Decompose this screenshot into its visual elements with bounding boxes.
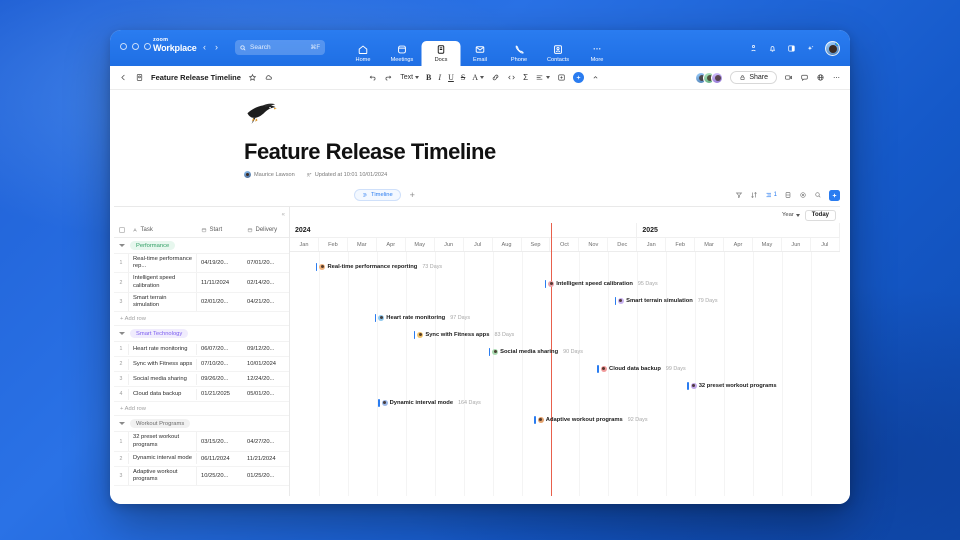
gantt-bar-start-cap bbox=[597, 365, 599, 373]
row-number: 2 bbox=[114, 454, 128, 464]
collapse-panel-button[interactable]: « bbox=[114, 207, 289, 223]
video-icon[interactable] bbox=[784, 73, 793, 82]
row-number: 1 bbox=[114, 258, 128, 268]
gantt-gridline bbox=[724, 252, 725, 496]
whiteboard-icon[interactable] bbox=[749, 44, 758, 53]
timeline-view-tabs: Timeline + 1 bbox=[114, 188, 840, 202]
timeline-board: « Task Start bbox=[114, 206, 840, 496]
cell-start[interactable]: 04/19/20... bbox=[197, 258, 243, 268]
text-style-label: Text bbox=[400, 74, 413, 81]
formula-button[interactable]: Σ bbox=[523, 73, 528, 82]
search-icon bbox=[240, 45, 246, 51]
group-count-label: 1 bbox=[774, 192, 777, 198]
globe-icon[interactable] bbox=[816, 73, 825, 82]
gantt-month-label: Jan bbox=[290, 238, 319, 251]
gantt-bar[interactable]: Smart terrain simulation79 Days bbox=[615, 296, 718, 305]
cell-task[interactable]: Smart terrain simulation bbox=[128, 293, 197, 311]
ai-assist-icon[interactable] bbox=[573, 72, 584, 83]
cell-start[interactable]: 06/11/2024 bbox=[197, 454, 243, 464]
cell-start[interactable]: 07/10/20... bbox=[197, 359, 243, 369]
nav-tab-meetings[interactable]: Meetings bbox=[383, 41, 422, 66]
gantt-month-label: Mar bbox=[348, 238, 377, 251]
group-name-pill: Workout Programs bbox=[130, 419, 190, 428]
cell-delivery[interactable]: 07/01/20... bbox=[243, 258, 289, 268]
date-type-icon bbox=[201, 227, 207, 233]
nav-tab-phone-label: Phone bbox=[511, 57, 527, 63]
table-row[interactable]: 3Social media sharing09/26/20...12/24/20… bbox=[114, 372, 289, 387]
zoom-level-dropdown[interactable]: Year bbox=[782, 212, 800, 218]
cell-task[interactable]: Social media sharing bbox=[128, 374, 197, 385]
gantt-bar-label: Smart terrain simulation bbox=[626, 298, 693, 304]
assignee-avatar bbox=[618, 298, 624, 304]
nav-tab-docs-label: Docs bbox=[435, 57, 448, 63]
table-row[interactable]: 132 preset workout programs03/15/20...04… bbox=[114, 432, 289, 451]
cell-task[interactable]: Dynamic interval mode bbox=[128, 453, 197, 464]
gantt-gridline bbox=[435, 252, 436, 496]
table-group-header[interactable]: Performance bbox=[114, 238, 289, 254]
panel-icon[interactable] bbox=[787, 44, 796, 53]
column-header-start[interactable]: Start bbox=[197, 227, 243, 233]
underline-button[interactable]: U bbox=[448, 73, 454, 82]
gantt-controls: Year Today bbox=[290, 207, 840, 223]
column-header-delivery[interactable]: Delivery bbox=[243, 227, 289, 233]
gantt-bar[interactable]: Adaptive workout programs92 Days bbox=[534, 415, 647, 424]
gantt-month-label: Feb bbox=[666, 238, 695, 251]
nav-tab-phone[interactable]: Phone bbox=[500, 41, 539, 66]
cell-delivery[interactable]: 04/21/20... bbox=[243, 297, 289, 307]
document-meta: Maurice Lawson Updated at 10:01 10/01/20… bbox=[244, 171, 850, 178]
gantt-chart: Year Today 20242025 JanFebMarAprMayJunJu… bbox=[290, 207, 840, 496]
table-row[interactable]: 3Smart terrain simulation02/01/20...04/2… bbox=[114, 293, 289, 312]
gantt-gridline bbox=[348, 252, 349, 496]
group-name-pill: Smart Technology bbox=[130, 329, 188, 338]
sort-icon[interactable] bbox=[750, 191, 758, 199]
cell-start[interactable]: 02/01/20... bbox=[197, 297, 243, 307]
gantt-bar[interactable]: Dynamic interval mode164 Days bbox=[378, 398, 481, 407]
gantt-bars-area: Real-time performance reporting73 DaysIn… bbox=[290, 252, 840, 496]
document-title-breadcrumb[interactable]: Feature Release Timeline bbox=[151, 73, 241, 82]
ai-sparkle-icon[interactable] bbox=[806, 44, 815, 53]
assignee-avatar bbox=[548, 281, 554, 287]
assignee-avatar bbox=[378, 315, 384, 321]
table-row[interactable]: 1Heart rate monitoring06/07/20...09/12/2… bbox=[114, 342, 289, 357]
cell-delivery[interactable]: 04/27/20... bbox=[243, 437, 289, 447]
gantt-bar-label: Sync with Fitness apps bbox=[425, 332, 489, 338]
nav-forward-button[interactable]: › bbox=[215, 42, 218, 52]
contacts-icon bbox=[539, 44, 578, 56]
column-header-delivery-label: Delivery bbox=[256, 227, 278, 233]
gantt-month-header: JanFebMarAprMayJunJulAugSepOctNovDecJanF… bbox=[290, 238, 840, 252]
star-icon[interactable] bbox=[248, 73, 257, 82]
gantt-month-label: Jan bbox=[637, 238, 666, 251]
nav-tab-home[interactable]: Home bbox=[344, 41, 383, 66]
column-header-task[interactable]: Task bbox=[128, 227, 197, 233]
gantt-bar-start-cap bbox=[375, 314, 377, 322]
assignee-avatar bbox=[417, 332, 423, 338]
table-row[interactable]: 1Real-time performance rep...04/19/20...… bbox=[114, 254, 289, 273]
user-avatar[interactable] bbox=[825, 41, 840, 56]
table-group-header[interactable]: Smart Technology bbox=[114, 326, 289, 342]
filter-icon[interactable] bbox=[735, 191, 743, 199]
table-row[interactable]: 2Sync with Fitness apps07/10/20...10/01/… bbox=[114, 357, 289, 372]
gantt-gridline bbox=[782, 252, 783, 496]
code-icon[interactable] bbox=[507, 73, 516, 82]
app-titlebar: zoom Workplace ‹ › Search ⌘F Home Meetin… bbox=[110, 30, 850, 66]
cell-task[interactable]: Real-time performance rep... bbox=[128, 254, 197, 272]
column-header-task-label: Task bbox=[141, 227, 153, 233]
add-row-button[interactable]: + Add row bbox=[114, 312, 289, 326]
chat-icon[interactable] bbox=[800, 73, 809, 82]
minimize-button[interactable] bbox=[132, 43, 139, 50]
link-icon[interactable] bbox=[491, 73, 500, 82]
gantt-month-label: Oct bbox=[550, 238, 579, 251]
gantt-bar-start-cap bbox=[687, 382, 689, 390]
gantt-month-label: Feb bbox=[319, 238, 348, 251]
gantt-bar-duration: 90 Days bbox=[563, 349, 583, 355]
nav-tab-contacts[interactable]: Contacts bbox=[539, 41, 578, 66]
align-dropdown[interactable] bbox=[535, 73, 550, 82]
chevron-down-icon bbox=[480, 76, 484, 79]
global-search-box[interactable]: Search ⌘F bbox=[235, 40, 325, 55]
gantt-month-label: Apr bbox=[377, 238, 406, 251]
italic-button[interactable]: I bbox=[438, 73, 441, 82]
cell-delivery[interactable]: 05/01/20... bbox=[243, 389, 289, 399]
gantt-gridline bbox=[608, 252, 609, 496]
gantt-gridline bbox=[811, 252, 812, 496]
gantt-gridline bbox=[377, 252, 378, 496]
maximize-button[interactable] bbox=[144, 43, 151, 50]
cloud-saved-icon bbox=[264, 73, 273, 82]
redo-icon[interactable] bbox=[384, 73, 393, 82]
gantt-month-label: May bbox=[753, 238, 782, 251]
gantt-bar-label: Intelligent speed calibration bbox=[556, 281, 633, 287]
table-row[interactable]: 4Cloud data backup01/21/202505/01/20... bbox=[114, 387, 289, 402]
main-nav-tabs[interactable]: Home Meetings Docs Email Phone Contacts bbox=[344, 41, 617, 66]
assignee-avatar bbox=[691, 383, 697, 389]
cell-start[interactable]: 06/07/20... bbox=[197, 344, 243, 354]
chevron-down-icon[interactable] bbox=[119, 244, 125, 247]
gantt-bar[interactable]: Sync with Fitness apps83 Days bbox=[414, 330, 514, 339]
more-icon bbox=[578, 44, 617, 56]
gantt-gridline bbox=[753, 252, 754, 496]
table-row[interactable]: 3Adaptive workout programs10/25/20...01/… bbox=[114, 467, 289, 486]
gantt-month-label: May bbox=[406, 238, 435, 251]
gantt-bar-label: Adaptive workout programs bbox=[546, 417, 623, 423]
history-nav[interactable]: ‹ › bbox=[203, 42, 218, 52]
chevron-down-icon[interactable] bbox=[119, 332, 125, 335]
gantt-gridline bbox=[579, 252, 580, 496]
gantt-gridline bbox=[666, 252, 667, 496]
gantt-gridline bbox=[522, 252, 523, 496]
row-number: 3 bbox=[114, 471, 128, 481]
row-number: 3 bbox=[114, 297, 128, 307]
cell-delivery[interactable]: 09/12/20... bbox=[243, 344, 289, 354]
comment-box-icon[interactable] bbox=[557, 73, 566, 82]
gantt-bar-start-cap bbox=[615, 297, 617, 305]
search-placeholder: Search bbox=[250, 44, 306, 51]
gantt-gridline bbox=[637, 252, 638, 496]
row-number: 4 bbox=[114, 389, 128, 399]
column-header-start-label: Start bbox=[210, 227, 223, 233]
gantt-gridline bbox=[319, 252, 320, 496]
chevron-up-icon[interactable] bbox=[591, 73, 600, 82]
gantt-month-label: Jun bbox=[435, 238, 464, 251]
assignee-avatar bbox=[319, 264, 325, 270]
bell-icon[interactable] bbox=[768, 44, 777, 53]
cell-start[interactable]: 09/26/20... bbox=[197, 374, 243, 384]
row-number: 1 bbox=[114, 344, 128, 354]
assignee-avatar bbox=[492, 349, 498, 355]
add-view-button[interactable]: + bbox=[407, 190, 418, 201]
chevron-down-icon bbox=[546, 76, 550, 79]
group-name-pill: Performance bbox=[130, 241, 175, 250]
gantt-gridline bbox=[695, 252, 696, 496]
window-controls[interactable] bbox=[120, 43, 151, 50]
cell-start[interactable]: 03/15/20... bbox=[197, 437, 243, 447]
cell-delivery[interactable]: 02/14/20... bbox=[243, 278, 289, 288]
gantt-bar-label: Heart rate monitoring bbox=[386, 315, 445, 321]
gantt-month-label: Jun bbox=[782, 238, 811, 251]
gantt-bar-start-cap bbox=[378, 399, 380, 407]
gantt-gridline bbox=[493, 252, 494, 496]
nav-tab-more-label: More bbox=[591, 57, 604, 63]
doc-icon bbox=[135, 73, 144, 82]
gantt-month-label: Dec bbox=[608, 238, 637, 251]
nav-tab-home-label: Home bbox=[356, 57, 371, 63]
text-type-icon bbox=[132, 227, 138, 233]
align-icon bbox=[535, 73, 544, 82]
group-icon[interactable]: 1 bbox=[765, 191, 777, 199]
font-color-label: A bbox=[472, 73, 478, 82]
assignee-avatar bbox=[601, 366, 607, 372]
chevron-down-icon bbox=[415, 76, 419, 79]
gantt-month-label: Sep bbox=[522, 238, 551, 251]
author-name: Maurice Lawson bbox=[254, 172, 295, 178]
nav-back-button[interactable]: ‹ bbox=[203, 42, 206, 52]
gantt-gridline bbox=[464, 252, 465, 496]
undo-icon[interactable] bbox=[368, 73, 377, 82]
chevron-down-icon bbox=[796, 214, 800, 217]
nav-tab-email[interactable]: Email bbox=[461, 41, 500, 66]
gantt-bar-duration: 164 Days bbox=[458, 400, 481, 406]
font-color-dropdown[interactable]: A bbox=[472, 73, 484, 82]
zoom-brand-logo: zoom Workplace bbox=[153, 38, 197, 53]
add-record-button[interactable] bbox=[829, 190, 840, 201]
gantt-bar[interactable]: Cloud data backup99 Days bbox=[597, 364, 685, 373]
cell-task[interactable]: Heart rate monitoring bbox=[128, 344, 197, 355]
document-canvas: Feature Release Timeline Maurice Lawson … bbox=[110, 90, 850, 504]
nav-tab-meetings-label: Meetings bbox=[391, 57, 414, 63]
cell-delivery[interactable]: 12/24/20... bbox=[243, 374, 289, 384]
titlebar-tray[interactable] bbox=[749, 41, 840, 56]
row-number: 2 bbox=[114, 359, 128, 369]
timeline-toolbar: 1 bbox=[735, 190, 840, 201]
date-type-icon bbox=[247, 227, 253, 233]
gantt-month-label: Apr bbox=[724, 238, 753, 251]
strikethrough-button[interactable]: S bbox=[461, 73, 465, 82]
email-icon bbox=[461, 44, 500, 56]
back-arrow-icon[interactable] bbox=[119, 73, 128, 82]
cell-delivery[interactable]: 11/21/2024 bbox=[243, 454, 289, 464]
table-header-row: Task Start Delivery bbox=[114, 223, 289, 238]
zoom-workplace-window: zoom Workplace ‹ › Search ⌘F Home Meetin… bbox=[110, 30, 850, 504]
settings-icon[interactable] bbox=[799, 191, 807, 199]
gantt-bar-duration: 99 Days bbox=[666, 366, 686, 372]
zoom-level-label: Year bbox=[782, 212, 794, 218]
gantt-year-label: 2025 bbox=[637, 223, 840, 237]
gantt-month-label: Jul bbox=[464, 238, 493, 251]
cell-task[interactable]: Adaptive workout programs bbox=[128, 467, 197, 485]
cell-delivery[interactable]: 01/25/20... bbox=[243, 471, 289, 481]
row-height-icon[interactable] bbox=[784, 191, 792, 199]
add-row-button[interactable]: + Add row bbox=[114, 402, 289, 416]
gantt-bar-duration: 73 Days bbox=[422, 264, 442, 270]
gantt-bar-start-cap bbox=[489, 348, 491, 356]
cell-start[interactable]: 11/11/2024 bbox=[197, 278, 243, 288]
edit-history-icon bbox=[306, 172, 312, 178]
gantt-bar-start-cap bbox=[316, 263, 318, 271]
gantt-month-label: Nov bbox=[579, 238, 608, 251]
search-shortcut: ⌘F bbox=[310, 44, 320, 51]
gantt-bar-duration: 79 Days bbox=[698, 298, 718, 304]
cell-task[interactable]: Cloud data backup bbox=[128, 389, 197, 400]
cell-task[interactable]: 32 preset workout programs bbox=[128, 432, 197, 450]
home-icon bbox=[344, 44, 383, 56]
page-title: Feature Release Timeline bbox=[244, 139, 850, 165]
timeline-widget: Timeline + 1 bbox=[110, 188, 850, 496]
gantt-year-header: 20242025 bbox=[290, 223, 840, 238]
gantt-year-label: 2024 bbox=[290, 223, 637, 237]
gantt-bar-label: 32 preset workout programs bbox=[699, 383, 777, 389]
cell-delivery[interactable]: 10/01/2024 bbox=[243, 359, 289, 369]
nav-tab-contacts-label: Contacts bbox=[547, 57, 569, 63]
cell-start[interactable]: 01/21/2025 bbox=[197, 389, 243, 399]
gantt-bar-label: Social media sharing bbox=[500, 349, 558, 355]
view-tab-timeline[interactable]: Timeline bbox=[354, 189, 401, 201]
gantt-bar-duration: 92 Days bbox=[628, 417, 648, 423]
share-label: Share bbox=[749, 74, 768, 81]
document-author: Maurice Lawson bbox=[244, 171, 295, 178]
document-updated: Updated at 10:01 10/01/2024 bbox=[306, 172, 387, 178]
view-tab-timeline-label: Timeline bbox=[371, 192, 393, 198]
select-all-checkbox[interactable] bbox=[114, 227, 128, 233]
document-toolbar: Feature Release Timeline Text B I U S A … bbox=[110, 66, 850, 90]
brand-workplace-text: Workplace bbox=[153, 44, 197, 53]
close-button[interactable] bbox=[120, 43, 127, 50]
gantt-bar-start-cap bbox=[414, 331, 416, 339]
gantt-bar-start-cap bbox=[545, 280, 547, 288]
collaborator-avatar-3[interactable] bbox=[711, 72, 723, 84]
table-row[interactable]: 2Dynamic interval mode06/11/202411/21/20… bbox=[114, 452, 289, 467]
nav-tab-more[interactable]: More bbox=[578, 41, 617, 66]
row-number: 3 bbox=[114, 374, 128, 384]
assignee-avatar bbox=[538, 417, 544, 423]
phone-icon bbox=[500, 44, 539, 56]
more-horizontal-icon[interactable] bbox=[832, 73, 841, 82]
collaborator-avatars[interactable] bbox=[695, 72, 723, 84]
share-button[interactable]: Share bbox=[730, 71, 777, 84]
cell-task[interactable]: Sync with Fitness apps bbox=[128, 359, 197, 370]
presence-status-dot bbox=[835, 41, 840, 46]
gantt-bar-label: Cloud data backup bbox=[609, 366, 661, 372]
edit-history-group bbox=[368, 73, 393, 82]
timeline-icon bbox=[362, 192, 368, 198]
gantt-bar-label: Real-time performance reporting bbox=[327, 264, 417, 270]
text-style-dropdown[interactable]: Text bbox=[400, 74, 419, 81]
row-number: 2 bbox=[114, 278, 128, 288]
gantt-bar-duration: 95 Days bbox=[638, 281, 658, 287]
gantt-gridline bbox=[406, 252, 407, 496]
cell-start[interactable]: 10/25/20... bbox=[197, 471, 243, 481]
bold-button[interactable]: B bbox=[426, 73, 431, 82]
gantt-bar[interactable]: Heart rate monitoring97 Days bbox=[375, 313, 470, 322]
row-number: 1 bbox=[114, 437, 128, 447]
today-marker-line bbox=[551, 223, 552, 496]
gantt-bar[interactable]: Intelligent speed calibration95 Days bbox=[545, 279, 658, 288]
gantt-month-label: Aug bbox=[493, 238, 522, 251]
gantt-bar-duration: 83 Days bbox=[494, 332, 514, 338]
gantt-bar[interactable]: Real-time performance reporting73 Days bbox=[316, 262, 442, 271]
nav-tab-email-label: Email bbox=[473, 57, 487, 63]
gantt-bar-duration: 97 Days bbox=[450, 315, 470, 321]
task-table: « Task Start bbox=[114, 207, 290, 496]
meetings-icon bbox=[383, 44, 422, 56]
gantt-bar[interactable]: 32 preset workout programs bbox=[687, 381, 777, 390]
table-group-header[interactable]: Workout Programs bbox=[114, 416, 289, 432]
gantt-bar-start-cap bbox=[534, 416, 536, 424]
table-group-list: Performance1Real-time performance rep...… bbox=[114, 238, 289, 486]
gantt-bar[interactable]: Social media sharing90 Days bbox=[489, 347, 583, 356]
assignee-avatar bbox=[382, 400, 388, 406]
gantt-bar-label: Dynamic interval mode bbox=[390, 400, 453, 406]
lock-icon bbox=[739, 74, 746, 81]
chevron-down-icon[interactable] bbox=[119, 422, 125, 425]
cell-task[interactable]: Intelligent speed calibration bbox=[128, 273, 197, 291]
table-row[interactable]: 2Intelligent speed calibration11/11/2024… bbox=[114, 273, 289, 292]
author-avatar bbox=[244, 171, 251, 178]
docs-icon bbox=[422, 44, 461, 56]
updated-text: Updated at 10:01 10/01/2024 bbox=[315, 172, 387, 178]
eagle-image bbox=[244, 102, 278, 128]
gantt-month-label: Jul bbox=[811, 238, 840, 251]
nav-tab-docs[interactable]: Docs bbox=[422, 41, 461, 66]
today-button[interactable]: Today bbox=[805, 210, 836, 221]
gantt-month-label: Mar bbox=[695, 238, 724, 251]
search-icon[interactable] bbox=[814, 191, 822, 199]
